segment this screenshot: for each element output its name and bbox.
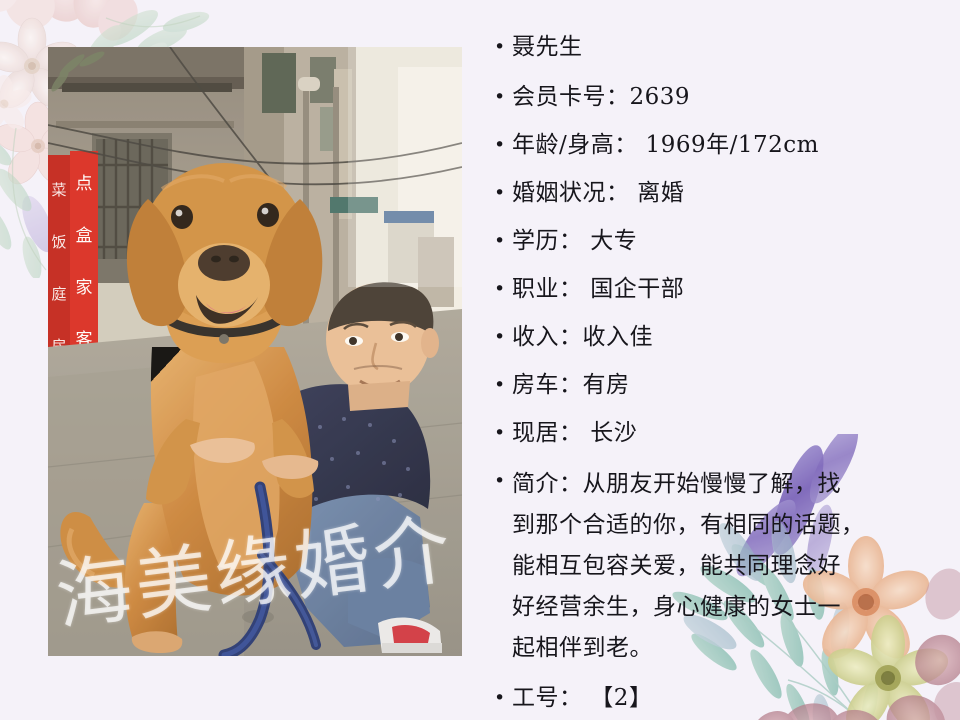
profile-education: 学历： 大专 [512, 224, 924, 258]
profile-introduction: 简介：从朋友开始慢慢了解，找 到那个合适的你，有相同的话题， 能相互包容关爱，能… [512, 464, 924, 669]
list-item: 现居： 长沙 [494, 416, 924, 450]
bullet-icon [494, 416, 512, 450]
profile-member-card: 会员卡号：2639 [512, 80, 924, 114]
list-item: 房车：有房 [494, 368, 924, 402]
bullet-icon [494, 368, 512, 402]
bullet-icon [494, 320, 512, 354]
bullet-icon [494, 464, 512, 498]
bullet-icon [494, 176, 512, 210]
bullet-icon [494, 681, 512, 715]
list-item: 年龄/身高： 1969年/172cm [494, 128, 924, 162]
list-item: 会员卡号：2639 [494, 80, 924, 114]
bullet-icon [494, 224, 512, 258]
list-item: 收入：收入佳 [494, 320, 924, 354]
profile-marital-status: 婚姻状况： 离婚 [512, 176, 924, 210]
list-item: 工号： 【2】 [494, 681, 924, 715]
list-item: 职业： 国企干部 [494, 272, 924, 306]
list-item: 婚姻状况： 离婚 [494, 176, 924, 210]
profile-name: 聂先生 [512, 30, 924, 64]
profile-occupation: 职业： 国企干部 [512, 272, 924, 306]
bullet-icon [494, 272, 512, 306]
profile-staff-number: 工号： 【2】 [512, 681, 924, 715]
list-item: 学历： 大专 [494, 224, 924, 258]
profile-info-list: 聂先生 会员卡号：2639 年龄/身高： 1969年/172cm 婚姻状况： 离… [494, 30, 924, 720]
profile-residence: 现居： 长沙 [512, 416, 924, 450]
list-item: 简介：从朋友开始慢慢了解，找 到那个合适的你，有相同的话题， 能相互包容关爱，能… [494, 464, 924, 669]
bullet-icon [494, 80, 512, 114]
profile-property: 房车：有房 [512, 368, 924, 402]
list-item: 聂先生 [494, 30, 924, 64]
profile-age-height: 年龄/身高： 1969年/172cm [512, 128, 924, 162]
bullet-icon [494, 128, 512, 162]
profile-photo: 点 盒 家 客 菜 饭 庭 房 [48, 47, 462, 656]
profile-income: 收入：收入佳 [512, 320, 924, 354]
bullet-icon [494, 30, 512, 64]
slide-canvas: 点 盒 家 客 菜 饭 庭 房 [0, 0, 960, 720]
